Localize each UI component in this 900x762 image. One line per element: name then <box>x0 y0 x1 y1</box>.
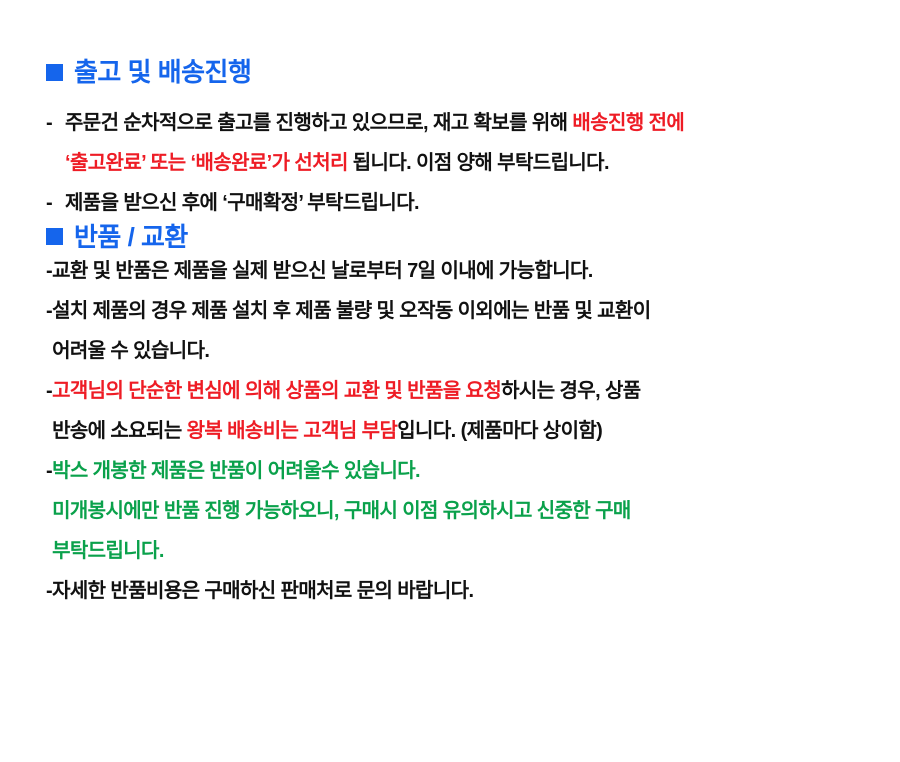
shipping-return-policy-notice: 출고 및 배송진행-주문건 순차적으로 출고를 진행하고 있으므로, 재고 확보… <box>0 0 900 762</box>
bullet-dash-icon: - <box>46 183 65 223</box>
bullet-list-return-exchange: -교환 및 반품은 제품을 실제 받으신 날로부터 7일 이내에 가능합니다.-… <box>46 251 870 611</box>
text-run-green: 부탁드립니다. <box>52 540 164 562</box>
policy-bullet: -고객님의 단순한 변심에 의해 상품의 교환 및 반품을 요청하시는 경우, … <box>46 371 870 451</box>
policy-line: 박스 개봉한 제품은 반품이 어려울수 있습니다. <box>52 451 870 491</box>
policy-line-continuation: 반송에 소요되는 왕복 배송비는 고객님 부담입니다. (제품마다 상이함) <box>52 411 870 451</box>
policy-line-continuation: 부탁드립니다. <box>52 531 870 571</box>
policy-bullet-text: 자세한 반품비용은 구매하신 판매처로 문의 바랍니다. <box>52 571 870 611</box>
text-run-black: 자세한 반품비용은 구매하신 판매처로 문의 바랍니다. <box>52 580 473 602</box>
filled-square-marker-icon <box>46 64 63 81</box>
section-heading-label: 반품 / 교환 <box>74 223 188 252</box>
section-heading-label: 출고 및 배송진행 <box>74 58 251 87</box>
text-run-black: 주문건 순차적으로 출고를 진행하고 있으므로, 재고 확보를 위해 <box>65 112 572 134</box>
policy-bullet: -교환 및 반품은 제품을 실제 받으신 날로부터 7일 이내에 가능합니다. <box>46 251 870 291</box>
text-run-red: 왕복 배송비는 고객님 부담 <box>187 420 398 442</box>
policy-bullet-text: 고객님의 단순한 변심에 의해 상품의 교환 및 반품을 요청하시는 경우, 상… <box>52 371 870 451</box>
text-run-red: ‘출고완료’ 또는 ‘배송완료’가 선처리 <box>65 152 348 174</box>
text-run-green: 박스 개봉한 제품은 반품이 어려울수 있습니다. <box>52 460 420 482</box>
text-run-black: 입니다. (제품마다 상이함) <box>397 420 602 442</box>
policy-line: 주문건 순차적으로 출고를 진행하고 있으므로, 재고 확보를 위해 배송진행 … <box>65 103 870 143</box>
policy-bullet-text: 제품을 받으신 후에 ‘구매확정’ 부탁드립니다. <box>65 183 870 223</box>
policy-line-continuation: 어려울 수 있습니다. <box>52 331 870 371</box>
bullet-dash-icon: - <box>46 103 65 143</box>
policy-bullet: -주문건 순차적으로 출고를 진행하고 있으므로, 재고 확보를 위해 배송진행… <box>46 103 870 183</box>
text-run-black: 설치 제품의 경우 제품 설치 후 제품 불량 및 오작동 이외에는 반품 및 … <box>52 300 650 322</box>
section-heading-delivery: 출고 및 배송진행 <box>46 58 870 87</box>
policy-line-continuation: 미개봉시에만 반품 진행 가능하오니, 구매시 이점 유의하시고 신중한 구매 <box>52 491 870 531</box>
text-run-green: 미개봉시에만 반품 진행 가능하오니, 구매시 이점 유의하시고 신중한 구매 <box>52 500 631 522</box>
section-return-exchange: 반품 / 교환-교환 및 반품은 제품을 실제 받으신 날로부터 7일 이내에 … <box>46 223 870 612</box>
section-delivery: 출고 및 배송진행-주문건 순차적으로 출고를 진행하고 있으므로, 재고 확보… <box>46 58 870 223</box>
filled-square-marker-icon <box>46 228 63 245</box>
text-run-red: 배송진행 전에 <box>572 112 684 134</box>
bullet-list-delivery: -주문건 순차적으로 출고를 진행하고 있으므로, 재고 확보를 위해 배송진행… <box>46 103 870 223</box>
policy-sections: 출고 및 배송진행-주문건 순차적으로 출고를 진행하고 있으므로, 재고 확보… <box>46 58 870 611</box>
policy-line: 고객님의 단순한 변심에 의해 상품의 교환 및 반품을 요청하시는 경우, 상… <box>52 371 870 411</box>
policy-bullet: -박스 개봉한 제품은 반품이 어려울수 있습니다.미개봉시에만 반품 진행 가… <box>46 451 870 571</box>
policy-line-continuation: ‘출고완료’ 또는 ‘배송완료’가 선처리 됩니다. 이점 양해 부탁드립니다. <box>65 143 870 183</box>
policy-line: 자세한 반품비용은 구매하신 판매처로 문의 바랍니다. <box>52 571 870 611</box>
text-run-black: 하시는 경우, 상품 <box>501 380 640 402</box>
policy-bullet-text: 박스 개봉한 제품은 반품이 어려울수 있습니다.미개봉시에만 반품 진행 가능… <box>52 451 870 571</box>
policy-bullet-text: 설치 제품의 경우 제품 설치 후 제품 불량 및 오작동 이외에는 반품 및 … <box>52 291 870 371</box>
text-run-black: 반송에 소요되는 <box>52 420 187 442</box>
policy-line: 교환 및 반품은 제품을 실제 받으신 날로부터 7일 이내에 가능합니다. <box>52 251 870 291</box>
policy-bullet-text: 주문건 순차적으로 출고를 진행하고 있으므로, 재고 확보를 위해 배송진행 … <box>65 103 870 183</box>
section-heading-return-exchange: 반품 / 교환 <box>46 223 870 252</box>
text-run-black: 됩니다. 이점 양해 부탁드립니다. <box>348 152 609 174</box>
text-run-black: 어려울 수 있습니다. <box>52 340 209 362</box>
policy-bullet: -자세한 반품비용은 구매하신 판매처로 문의 바랍니다. <box>46 571 870 611</box>
policy-bullet: -제품을 받으신 후에 ‘구매확정’ 부탁드립니다. <box>46 183 870 223</box>
policy-line: 제품을 받으신 후에 ‘구매확정’ 부탁드립니다. <box>65 183 870 223</box>
policy-bullet-text: 교환 및 반품은 제품을 실제 받으신 날로부터 7일 이내에 가능합니다. <box>52 251 870 291</box>
text-run-red: 고객님의 단순한 변심에 의해 상품의 교환 및 반품을 요청 <box>52 380 501 402</box>
policy-bullet: -설치 제품의 경우 제품 설치 후 제품 불량 및 오작동 이외에는 반품 및… <box>46 291 870 371</box>
text-run-black: 교환 및 반품은 제품을 실제 받으신 날로부터 7일 이내에 가능합니다. <box>52 260 593 282</box>
text-run-black: 제품을 받으신 후에 ‘구매확정’ 부탁드립니다. <box>65 192 419 214</box>
policy-line: 설치 제품의 경우 제품 설치 후 제품 불량 및 오작동 이외에는 반품 및 … <box>52 291 870 331</box>
